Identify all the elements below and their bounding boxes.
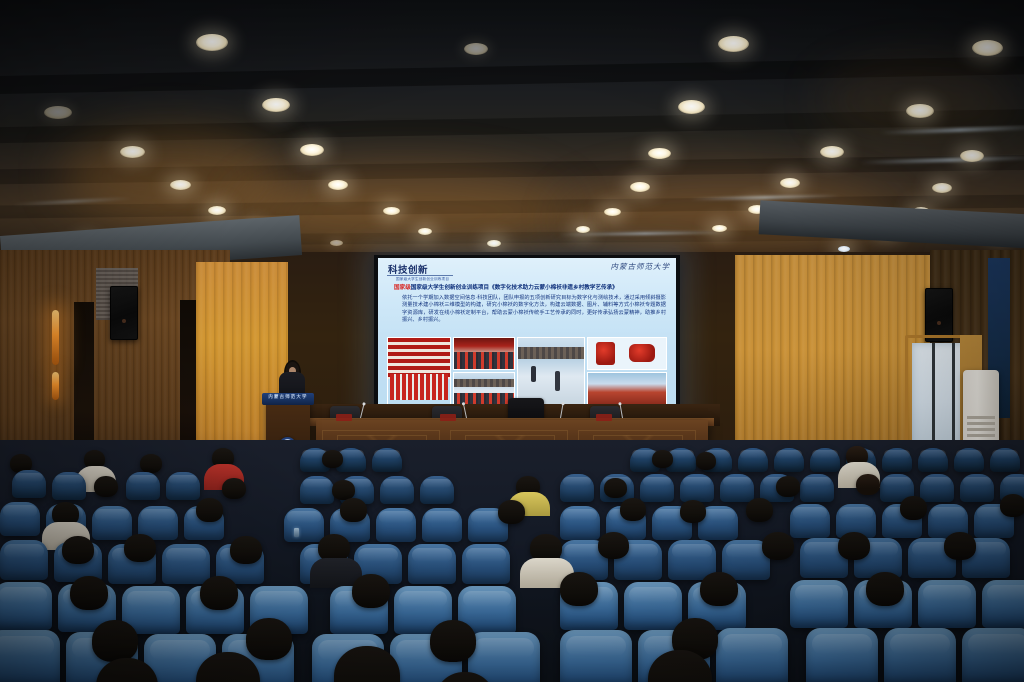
seat (376, 508, 416, 542)
seat (0, 582, 52, 630)
ceiling-beam (0, 154, 1024, 185)
seat (0, 630, 60, 682)
seat (126, 472, 160, 500)
seat (720, 474, 754, 502)
audience-head (196, 498, 223, 522)
audience-seating (0, 440, 1024, 682)
audience-head (944, 532, 976, 560)
seat (462, 544, 510, 584)
ceiling-light (820, 146, 844, 158)
ceiling-light (383, 207, 400, 215)
seat (960, 474, 994, 502)
desk-name-card (596, 414, 612, 421)
ceiling-light (330, 240, 343, 246)
seat (162, 544, 210, 584)
audience-head (498, 500, 525, 524)
audience-head (604, 478, 627, 498)
seat (810, 448, 840, 472)
seat (0, 502, 40, 536)
presentation-slide: 科技创新 内蒙古师范大学 国家级大学生创新创业训练项目 国家级国家级大学生创新创… (378, 258, 676, 410)
audience-head (246, 618, 292, 660)
ceiling-light (328, 180, 348, 190)
seat (918, 580, 976, 628)
audience-head (620, 498, 646, 521)
slide-photo-workshop (587, 372, 667, 405)
ceiling-light (464, 43, 488, 55)
ceiling-light (718, 36, 749, 52)
ceiling-light (196, 34, 228, 51)
audience-head (856, 474, 880, 495)
seat (806, 628, 878, 682)
wall-speaker-left (110, 286, 138, 340)
seat (284, 508, 324, 542)
slide-subheading: 国家级大学生创新创业训练项目 (396, 277, 449, 282)
slide-bullet-highlight: 国家级 (394, 285, 411, 291)
slide-photo-garments (587, 337, 667, 370)
audience-head (92, 620, 138, 662)
wall-sconce-lower (52, 372, 59, 400)
university-logo-text: 内蒙古师范大学 (611, 261, 671, 272)
seat (0, 540, 48, 580)
seat (372, 448, 402, 472)
seat (624, 582, 682, 630)
ceiling-light (648, 148, 671, 159)
audience-head (430, 620, 476, 662)
seat (884, 628, 956, 682)
desk-name-card (440, 414, 456, 421)
audience-head (776, 476, 800, 497)
ac-grille (967, 416, 995, 419)
photo-skater (555, 371, 560, 391)
seat (560, 506, 600, 540)
ceiling-light (262, 98, 290, 112)
wall-speaker-right (925, 288, 953, 342)
slide-photo-collage (387, 337, 669, 405)
ceiling-light (300, 144, 324, 156)
slide-bullet-rest: 国家级大学生创新创业训练项目《数字化技术助力云蒙小棉袄非遗乡村教学艺传承》 (411, 285, 618, 291)
seat (954, 448, 984, 472)
seat (962, 628, 1024, 682)
audience-head (222, 478, 246, 499)
slide-photo-ice-rink (517, 337, 585, 405)
ceiling-beam (0, 108, 1024, 144)
ceiling-light (170, 180, 191, 190)
slide-bullet-line: 国家级国家级大学生创新创业训练项目《数字化技术助力云蒙小棉袄非遗乡村教学艺传承》 (394, 284, 668, 292)
slide-photo-fieldwork (453, 372, 515, 405)
seat (640, 474, 674, 502)
ceiling-beam (0, 55, 1024, 95)
audience-head (680, 500, 706, 523)
seat (422, 508, 462, 542)
photo-workshop-scene (588, 373, 666, 404)
ceiling-light (487, 240, 501, 247)
audience-head (340, 498, 367, 522)
ac-grille (967, 434, 995, 437)
photo-treeline (518, 347, 584, 359)
wall-sconce-upper (52, 310, 59, 365)
photo-skater (531, 366, 536, 382)
seat (920, 474, 954, 502)
seat (800, 474, 834, 502)
slide-body-paragraph: 依托一个学期加入数据空间信息·科技团队，团队申报的五项创新研究目标为数字化与测绘… (402, 295, 666, 325)
ceiling-light (44, 106, 72, 119)
ceiling-light (630, 182, 650, 192)
audience-head (140, 454, 162, 473)
seat (300, 476, 334, 504)
audience-head (200, 576, 238, 610)
audience-head (652, 450, 673, 468)
photo-red-vest (629, 344, 656, 361)
audience-head (62, 536, 94, 564)
audience-phone (294, 528, 299, 537)
ac-grille (967, 428, 995, 431)
seat (716, 628, 788, 682)
audience-head (746, 498, 773, 522)
audience-head (94, 476, 118, 497)
audience-head (696, 452, 716, 470)
seat (560, 474, 594, 502)
seat (790, 504, 830, 538)
desk-name-card (336, 414, 352, 421)
audience-head (560, 572, 598, 606)
audience-head (762, 532, 794, 560)
ac-grille (967, 422, 995, 425)
audience-head (70, 576, 108, 610)
seat (680, 474, 714, 502)
audience-head (1000, 494, 1024, 517)
ceiling-light (418, 228, 432, 235)
seat (790, 580, 848, 628)
slide-title-underline (387, 275, 453, 276)
seat (52, 472, 86, 500)
auditorium-photo: 科技创新 内蒙古师范大学 国家级大学生创新创业训练项目 国家级国家级大学生创新创… (0, 0, 1024, 682)
seat (380, 476, 414, 504)
audience-head (866, 572, 904, 606)
ceiling-light (120, 146, 145, 158)
audience-head (598, 532, 629, 559)
photo-treeline (454, 379, 514, 386)
speaker-cone (122, 319, 126, 323)
slide-photo-ceremony (453, 337, 515, 370)
audience-head (230, 536, 262, 564)
audience-head (332, 480, 355, 500)
photo-team-row (390, 374, 448, 400)
seat (738, 448, 768, 472)
seat (166, 472, 200, 500)
slide-photo-team-group (387, 337, 451, 405)
seat (982, 580, 1024, 628)
audience-head (838, 532, 870, 560)
photo-red-jacket (596, 342, 615, 365)
seat (990, 448, 1020, 472)
audience-head (124, 534, 156, 562)
audience-head (322, 450, 343, 468)
ceiling-light (960, 150, 984, 162)
seat (560, 630, 632, 682)
ceiling-light (576, 226, 590, 233)
audience-head (352, 574, 390, 608)
podium-label: 内蒙古师范大学 (266, 394, 310, 400)
ceiling-light (712, 225, 727, 232)
ceiling-light (780, 178, 800, 188)
seat (882, 448, 912, 472)
audience-head (900, 496, 927, 520)
ceiling-light (678, 100, 705, 114)
ceiling-light (906, 104, 934, 118)
ceiling-light (932, 183, 952, 193)
seat (12, 470, 46, 498)
ceiling-light (208, 206, 226, 215)
seat (92, 506, 132, 540)
audience-head (700, 572, 738, 606)
speaker-cone (937, 321, 941, 325)
seat (420, 476, 454, 504)
seat (408, 544, 456, 584)
seat (918, 448, 948, 472)
photo-crowd (454, 352, 514, 369)
ceiling-light (972, 40, 1003, 56)
seat (774, 448, 804, 472)
ceiling-light (604, 208, 621, 216)
slide-section-title: 科技创新 (388, 262, 428, 276)
